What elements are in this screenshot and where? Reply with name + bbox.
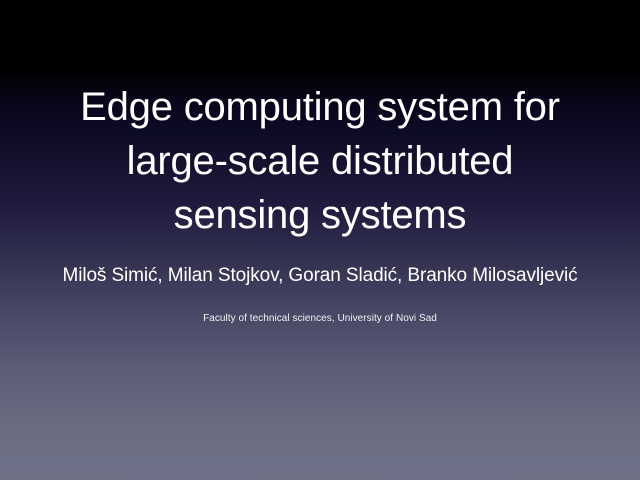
author-list: Miloš Simić, Milan Stojkov, Goran Sladić… bbox=[8, 264, 632, 288]
title-line-1: Edge computing system for bbox=[16, 80, 624, 134]
page-title: Edge computing system for large-scale di… bbox=[16, 80, 624, 242]
title-slide: Edge computing system for large-scale di… bbox=[0, 0, 640, 480]
title-line-2: large-scale distributed bbox=[16, 134, 624, 188]
title-line-3: sensing systems bbox=[16, 188, 624, 242]
slide-content: Edge computing system for large-scale di… bbox=[0, 0, 640, 480]
affiliation-text: Faculty of technical sciences, Universit… bbox=[8, 312, 632, 326]
